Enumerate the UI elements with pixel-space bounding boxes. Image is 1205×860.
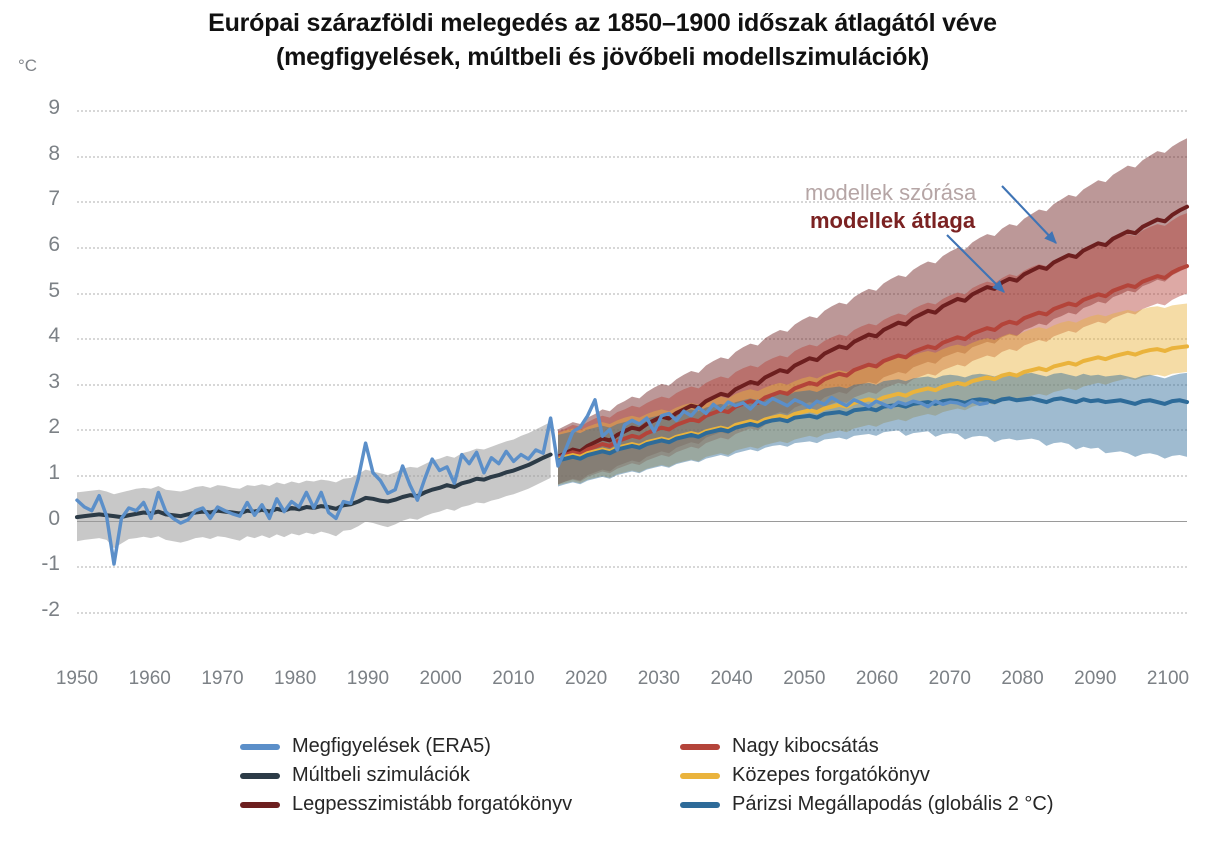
x-tick-2030: 2030 — [619, 668, 699, 690]
annotation-model-spread: modellek szórása — [805, 180, 976, 206]
legend-item[interactable]: Legpesszimistább forgatókönyv — [240, 793, 680, 816]
x-tick-2060: 2060 — [837, 668, 917, 690]
x-tick-1960: 1960 — [110, 668, 190, 690]
y-axis-unit-label: °C — [18, 56, 37, 76]
legend-item[interactable]: Megfigyelések (ERA5) — [240, 735, 680, 758]
y-tick-7: 7 — [8, 187, 60, 211]
legend-swatch — [240, 744, 280, 750]
annotation-model-mean: modellek átlaga — [810, 208, 975, 234]
y-tick-0: 0 — [8, 507, 60, 531]
x-tick-2050: 2050 — [764, 668, 844, 690]
y-tick-6: 6 — [8, 233, 60, 257]
x-tick-2040: 2040 — [692, 668, 772, 690]
x-tick-2070: 2070 — [910, 668, 990, 690]
legend-item[interactable]: Nagy kibocsátás — [680, 735, 1120, 758]
band-m-ltbeli-szimul-ci-k — [77, 422, 551, 548]
x-tick-1970: 1970 — [182, 668, 262, 690]
x-tick-2100: 2100 — [1128, 668, 1205, 690]
legend-item[interactable]: Párizsi Megállapodás (globális 2 °C) — [680, 793, 1120, 816]
legend-item[interactable]: Múltbeli szimulációk — [240, 764, 680, 787]
legend-label: Közepes forgatókönyv — [732, 764, 930, 787]
chart-series-svg — [77, 110, 1187, 612]
y-tick-2: 2 — [8, 415, 60, 439]
legend-label: Legpesszimistább forgatókönyv — [292, 793, 572, 816]
y-tick--1: -1 — [8, 552, 60, 576]
legend-swatch — [240, 773, 280, 779]
x-tick-1990: 1990 — [328, 668, 408, 690]
x-tick-2010: 2010 — [473, 668, 553, 690]
legend-label: Párizsi Megállapodás (globális 2 °C) — [732, 793, 1053, 816]
y-tick-9: 9 — [8, 96, 60, 120]
x-tick-1980: 1980 — [255, 668, 335, 690]
y-tick-5: 5 — [8, 279, 60, 303]
chart-title-line-1: Európai szárazföldi melegedés az 1850–19… — [0, 6, 1205, 40]
x-tick-2000: 2000 — [401, 668, 481, 690]
legend-swatch — [680, 773, 720, 779]
legend-label: Múltbeli szimulációk — [292, 764, 470, 787]
legend-label: Nagy kibocsátás — [732, 735, 879, 758]
legend-swatch — [680, 744, 720, 750]
y-tick-8: 8 — [8, 142, 60, 166]
legend-swatch — [680, 802, 720, 808]
x-tick-2080: 2080 — [983, 668, 1063, 690]
y-tick-3: 3 — [8, 370, 60, 394]
x-tick-2020: 2020 — [546, 668, 626, 690]
x-tick-1950: 1950 — [37, 668, 117, 690]
y-tick--2: -2 — [8, 598, 60, 622]
y-tick-1: 1 — [8, 461, 60, 485]
chart-legend: Megfigyelések (ERA5)Nagy kibocsátásMúltb… — [240, 732, 1100, 819]
chart-title-line-2: (megfigyelések, múltbeli és jövőbeli mod… — [0, 40, 1205, 74]
gridline--2 — [77, 612, 1187, 614]
chart-title: Európai szárazföldi melegedés az 1850–19… — [0, 6, 1205, 74]
x-tick-2090: 2090 — [1055, 668, 1135, 690]
legend-label: Megfigyelések (ERA5) — [292, 735, 491, 758]
legend-swatch — [240, 802, 280, 808]
legend-item[interactable]: Közepes forgatókönyv — [680, 764, 1120, 787]
plot-area — [77, 110, 1168, 612]
y-tick-4: 4 — [8, 324, 60, 348]
